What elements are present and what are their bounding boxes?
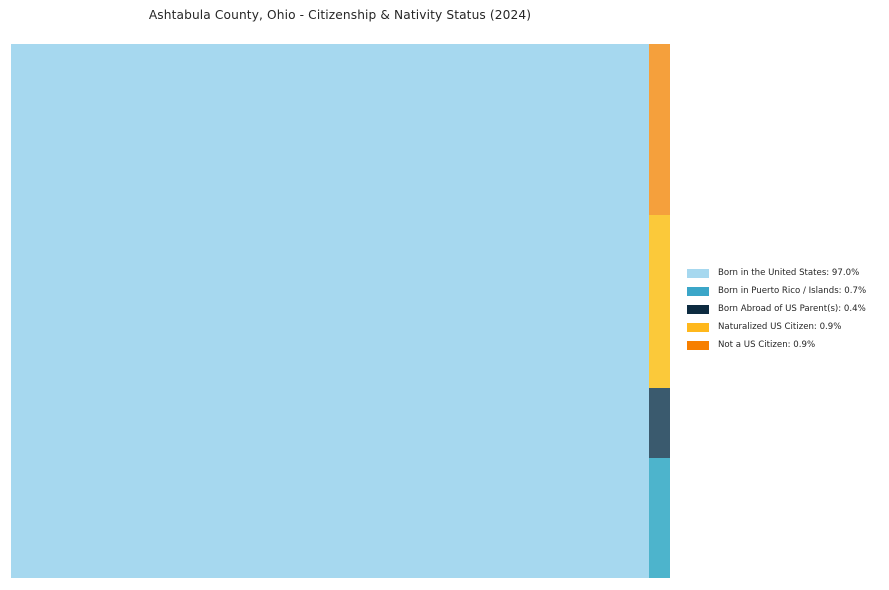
legend-swatch-icon: [687, 323, 709, 332]
legend-item-not-a-us-citizen[interactable]: Not a US Citizen: 0.9%: [687, 336, 877, 354]
treemap-tile-naturalized-us-citizen[interactable]: [649, 215, 670, 388]
legend-swatch-icon: [687, 305, 709, 314]
legend-item-label: Naturalized US Citizen: 0.9%: [718, 323, 841, 332]
legend-item-label: Born in the United States: 97.0%: [718, 269, 859, 278]
legend-item-label: Born in Puerto Rico / Islands: 0.7%: [718, 287, 866, 296]
legend-item-label: Born Abroad of US Parent(s): 0.4%: [718, 305, 866, 314]
chart-legend: Born in the United States: 97.0% Born in…: [687, 264, 877, 354]
legend-item-born-in-puerto-rico-islands[interactable]: Born in Puerto Rico / Islands: 0.7%: [687, 282, 877, 300]
treemap-plot-area: [11, 44, 670, 578]
treemap-tile-born-in-the-united-states[interactable]: [11, 44, 649, 578]
legend-item-born-abroad-of-us-parents[interactable]: Born Abroad of US Parent(s): 0.4%: [687, 300, 877, 318]
treemap-tile-not-a-us-citizen[interactable]: [649, 44, 670, 215]
chart-figure: Ashtabula County, Ohio - Citizenship & N…: [0, 0, 889, 590]
chart-title: Ashtabula County, Ohio - Citizenship & N…: [0, 8, 680, 22]
treemap-tile-born-in-puerto-rico-islands[interactable]: [649, 458, 670, 578]
treemap-tile-born-abroad-of-us-parents[interactable]: [649, 388, 670, 458]
legend-item-label: Not a US Citizen: 0.9%: [718, 341, 815, 350]
legend-swatch-icon: [687, 287, 709, 296]
legend-swatch-icon: [687, 341, 709, 350]
legend-item-born-in-the-united-states[interactable]: Born in the United States: 97.0%: [687, 264, 877, 282]
legend-swatch-icon: [687, 269, 709, 278]
legend-item-naturalized-us-citizen[interactable]: Naturalized US Citizen: 0.9%: [687, 318, 877, 336]
